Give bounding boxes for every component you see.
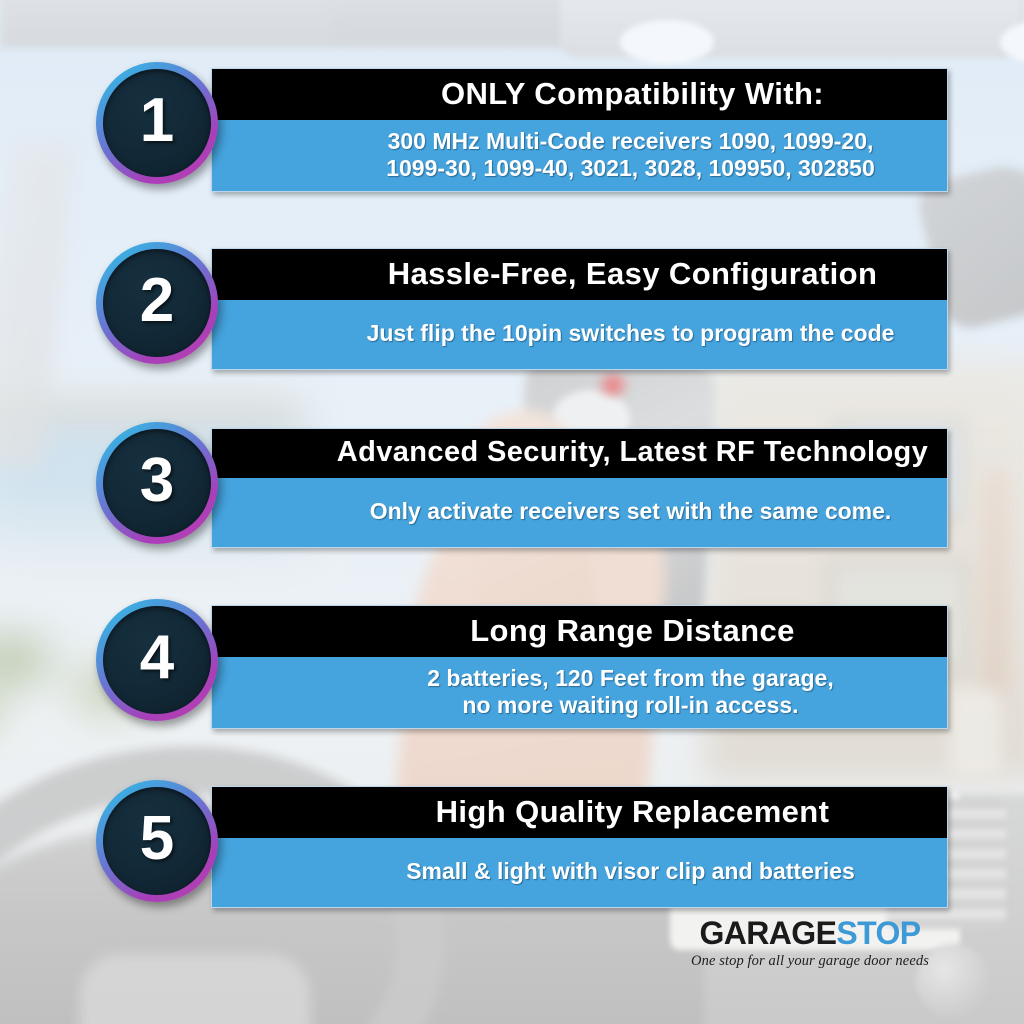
feature-body-4: 2 batteries, 120 Feet from the garage, n… <box>212 657 947 728</box>
feature-badge-inner-4: 4 <box>103 606 211 714</box>
feature-body-line: no more waiting roll-in access. <box>328 692 933 719</box>
feature-title-1: ONLY Compatibility With: <box>212 69 947 120</box>
feature-title-5: High Quality Replacement <box>212 787 947 838</box>
feature-list: ONLY Compatibility With: 300 MHz Multi-C… <box>0 0 1024 1024</box>
feature-number-3: 3 <box>140 450 174 512</box>
feature-badge-inner-5: 5 <box>103 787 211 895</box>
feature-title-2: Hassle-Free, Easy Configuration <box>212 249 947 300</box>
feature-bars-3: Advanced Security, Latest RF Technology … <box>211 428 948 548</box>
feature-badge-5: 5 <box>96 780 218 902</box>
infographic-canvas: ONLY Compatibility With: 300 MHz Multi-C… <box>0 0 1024 1024</box>
feature-bars-2: Hassle-Free, Easy Configuration Just fli… <box>211 248 948 370</box>
feature-number-4: 4 <box>140 627 174 689</box>
brand-logo-tagline: One stop for all your garage door needs <box>680 953 940 970</box>
feature-bars-5: High Quality Replacement Small & light w… <box>211 786 948 908</box>
feature-body-line: Small & light with visor clip and batter… <box>328 858 933 885</box>
feature-bars-4: Long Range Distance 2 batteries, 120 Fee… <box>211 605 948 729</box>
feature-body-line: 300 MHz Multi-Code receivers 1090, 1099-… <box>328 128 933 155</box>
feature-body-5: Small & light with visor clip and batter… <box>212 838 947 907</box>
feature-body-1: 300 MHz Multi-Code receivers 1090, 1099-… <box>212 120 947 191</box>
brand-logo-wordmark: GARAGESTOP <box>680 917 940 949</box>
brand-logo-garage: GARAGE <box>699 915 836 951</box>
feature-number-1: 1 <box>140 90 174 152</box>
feature-body-2: Just flip the 10pin switches to program … <box>212 300 947 369</box>
feature-body-line: Only activate receivers set with the sam… <box>328 498 933 525</box>
feature-badge-3: 3 <box>96 422 218 544</box>
feature-badge-4: 4 <box>96 599 218 721</box>
feature-number-5: 5 <box>140 808 174 870</box>
feature-badge-inner-3: 3 <box>103 429 211 537</box>
feature-title-4: Long Range Distance <box>212 606 947 657</box>
feature-bars-1: ONLY Compatibility With: 300 MHz Multi-C… <box>211 68 948 192</box>
feature-title-3: Advanced Security, Latest RF Technology <box>212 429 947 478</box>
brand-logo-stop: STOP <box>836 915 920 951</box>
feature-badge-inner-1: 1 <box>103 69 211 177</box>
feature-badge-inner-2: 2 <box>103 249 211 357</box>
feature-body-line: Just flip the 10pin switches to program … <box>328 320 933 347</box>
feature-body-3: Only activate receivers set with the sam… <box>212 478 947 547</box>
feature-body-line: 2 batteries, 120 Feet from the garage, <box>328 665 933 692</box>
feature-number-2: 2 <box>140 270 174 332</box>
feature-badge-1: 1 <box>96 62 218 184</box>
brand-logo: GARAGESTOP One stop for all your garage … <box>680 917 940 970</box>
feature-body-line: 1099-30, 1099-40, 3021, 3028, 109950, 30… <box>328 155 933 182</box>
feature-badge-2: 2 <box>96 242 218 364</box>
